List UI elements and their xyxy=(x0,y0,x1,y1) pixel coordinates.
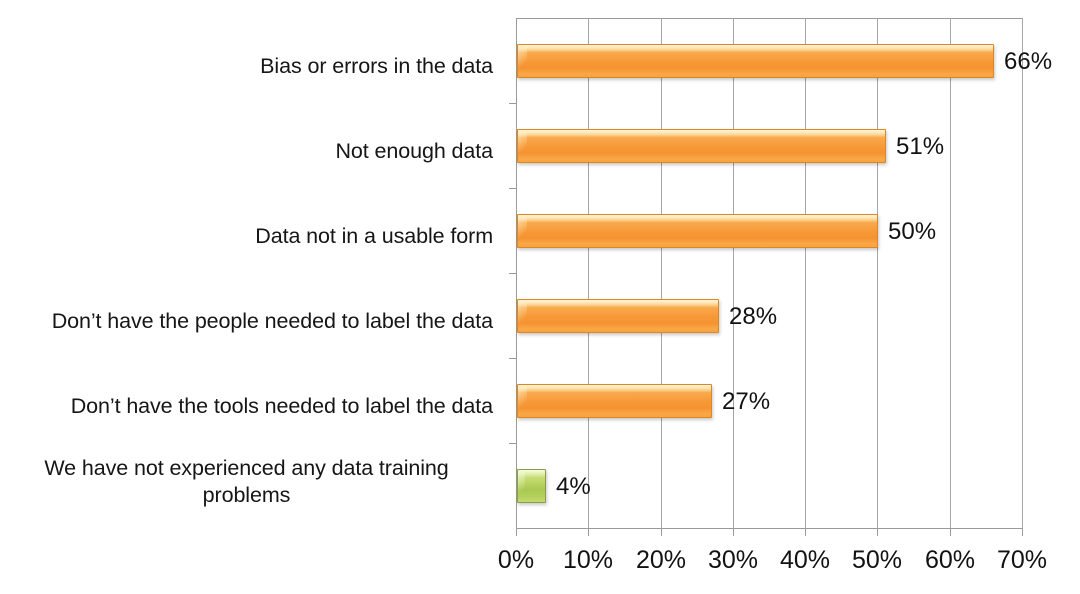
x-axis-tick-0 xyxy=(516,528,517,536)
y-axis-tick-2 xyxy=(509,273,516,274)
category-label-5-line-1: We have not experienced any data trainin… xyxy=(0,455,493,482)
value-label-1: 51% xyxy=(896,134,944,160)
bar-3[interactable] xyxy=(517,299,719,333)
x-axis-label-70: 70% xyxy=(997,545,1047,575)
x-axis-tick-50 xyxy=(877,528,878,536)
gridline-10 xyxy=(588,18,589,528)
y-axis-tick-1 xyxy=(509,188,516,189)
y-axis-tick-4 xyxy=(509,443,516,444)
x-axis-label-30: 30% xyxy=(708,545,758,575)
gridline-60 xyxy=(950,18,951,528)
x-axis-label-0: 0% xyxy=(498,545,534,575)
x-axis-tick-30 xyxy=(733,528,734,536)
x-axis-tick-40 xyxy=(805,528,806,536)
x-axis-label-10: 10% xyxy=(563,545,613,575)
bar-4[interactable] xyxy=(517,384,712,418)
value-label-3: 28% xyxy=(729,304,777,330)
y-axis-tick-0 xyxy=(509,103,516,104)
bar-chart: Bias or errors in the data Not enough da… xyxy=(0,0,1080,594)
gridline-40 xyxy=(805,18,806,528)
category-label-5-line-2: problems xyxy=(0,482,493,509)
x-axis-label-20: 20% xyxy=(636,545,686,575)
category-label-1: Not enough data xyxy=(0,138,493,165)
y-axis-tick-3 xyxy=(509,358,516,359)
category-axis-labels: Bias or errors in the data Not enough da… xyxy=(0,18,493,528)
plot-top-border xyxy=(516,18,1022,19)
bar-1[interactable] xyxy=(517,129,886,163)
x-axis-label-50: 50% xyxy=(852,545,902,575)
gridline-20 xyxy=(661,18,662,528)
bar-2[interactable] xyxy=(517,214,878,248)
bar-0[interactable] xyxy=(517,44,994,78)
category-label-5: We have not experienced any data trainin… xyxy=(0,455,493,509)
gridline-50 xyxy=(877,18,878,528)
x-axis-tick-60 xyxy=(950,528,951,536)
y-axis-line xyxy=(516,18,517,528)
x-axis-label-40: 40% xyxy=(780,545,830,575)
x-axis-tick-20 xyxy=(661,528,662,536)
category-label-2: Data not in a usable form xyxy=(0,223,493,250)
category-label-0: Bias or errors in the data xyxy=(0,53,493,80)
category-label-4: Don’t have the tools needed to label the… xyxy=(0,393,493,420)
value-label-0: 66% xyxy=(1004,49,1052,75)
value-label-4: 27% xyxy=(722,389,770,415)
bar-5[interactable] xyxy=(517,469,546,503)
gridline-70 xyxy=(1022,18,1023,528)
value-label-2: 50% xyxy=(888,219,936,245)
x-axis-tick-70 xyxy=(1022,528,1023,536)
x-axis-line xyxy=(516,528,1022,529)
x-axis-tick-10 xyxy=(588,528,589,536)
plot-area: 66% 51% 50% 28% 27% 4% 0% 10% 20% 30% 40… xyxy=(516,18,1022,528)
category-label-3: Don’t have the people needed to label th… xyxy=(0,308,493,335)
x-axis-label-60: 60% xyxy=(925,545,975,575)
gridline-30 xyxy=(733,18,734,528)
value-label-5: 4% xyxy=(556,474,591,500)
